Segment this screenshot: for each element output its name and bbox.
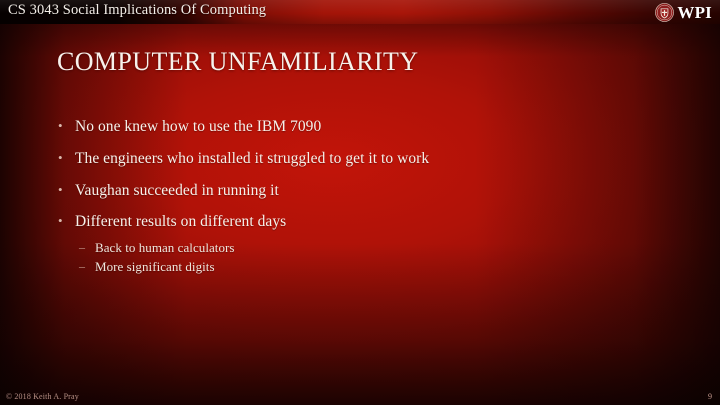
bullet-marker-icon: • [58, 119, 75, 132]
slide-body-bullet-list: • No one knew how to use the IBM 7090 • … [58, 118, 668, 279]
sub-bullet-item: – Back to human calculators [79, 241, 668, 256]
wpi-wordmark: WPI [677, 4, 712, 21]
sub-bullet-item: – More significant digits [79, 260, 668, 275]
bullet-marker-icon: • [58, 151, 75, 164]
sub-bullet-dash-icon: – [79, 241, 95, 253]
slide-page-number: 9 [708, 392, 712, 401]
bullet-item: • Different results on different days [58, 213, 668, 231]
sub-bullet-dash-icon: – [79, 260, 95, 272]
bullet-item: • Vaughan succeeded in running it [58, 182, 668, 200]
slide-title: COMPUTER UNFAMILIARITY [57, 47, 419, 77]
bullet-item: • The engineers who installed it struggl… [58, 150, 668, 168]
bullet-item: • No one knew how to use the IBM 7090 [58, 118, 668, 136]
wpi-seal-icon [655, 3, 674, 22]
bullet-marker-icon: • [58, 183, 75, 196]
bullet-text: No one knew how to use the IBM 7090 [75, 118, 668, 136]
sub-bullet-text: More significant digits [95, 260, 668, 275]
bullet-text: The engineers who installed it struggled… [75, 150, 668, 168]
bullet-marker-icon: • [58, 214, 75, 227]
sub-bullet-group: – Back to human calculators – More signi… [58, 241, 668, 275]
footer-copyright: © 2018 Keith A. Pray [6, 392, 79, 401]
sub-bullet-text: Back to human calculators [95, 241, 668, 256]
bullet-text: Vaughan succeeded in running it [75, 182, 668, 200]
bullet-text: Different results on different days [75, 213, 668, 231]
wpi-logo: WPI [655, 1, 712, 23]
presentation-slide: CS 3043 Social Implications Of Computing… [0, 0, 720, 405]
course-title: CS 3043 Social Implications Of Computing [8, 2, 266, 19]
